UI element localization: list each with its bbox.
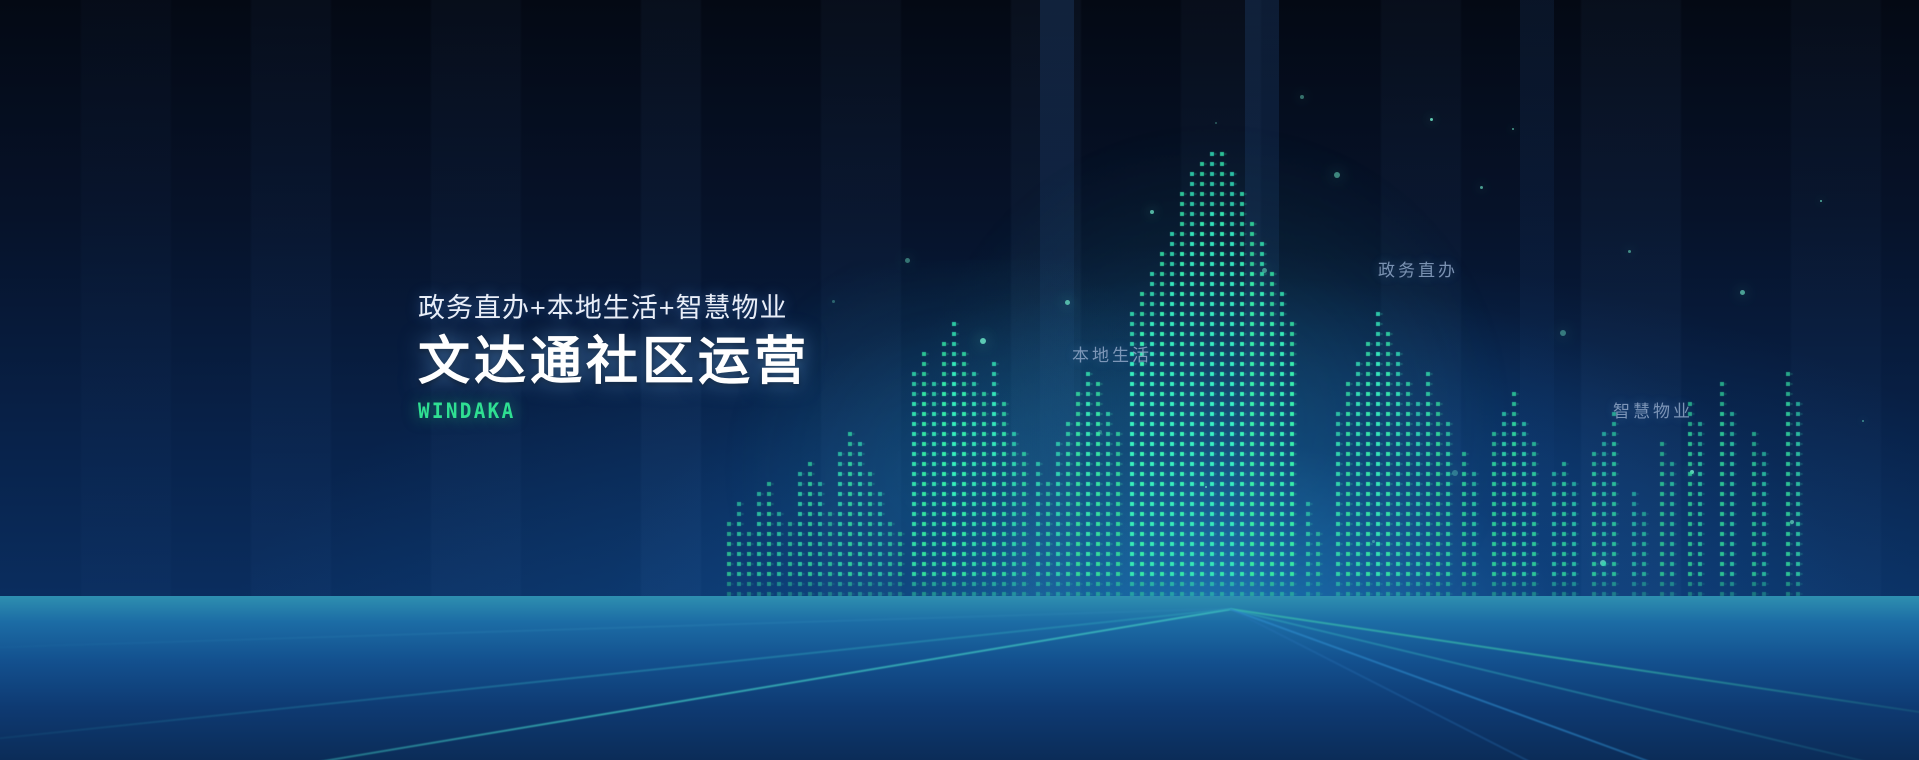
floating-tag-bendi: 本地生活	[1072, 341, 1152, 366]
banner-title: 文达通社区运营	[418, 334, 978, 391]
headline-block: 政务直办+本地生活+智慧物业 文达通社区运营 WINDAKA	[418, 292, 978, 423]
floating-tag-zhihui: 智慧物业	[1613, 397, 1693, 422]
banner-subtitle: 政务直办+本地生活+智慧物业	[418, 292, 978, 326]
horizon-glow	[0, 588, 1919, 658]
brand-wordmark: WINDAKA	[418, 399, 933, 423]
floating-tag-zhengwu: 政务直办	[1378, 256, 1458, 281]
banner-stage: 政务直办 本地生活 智慧物业 政务直办+本地生活+智慧物业 文达通社区运营 WI…	[0, 0, 1919, 760]
